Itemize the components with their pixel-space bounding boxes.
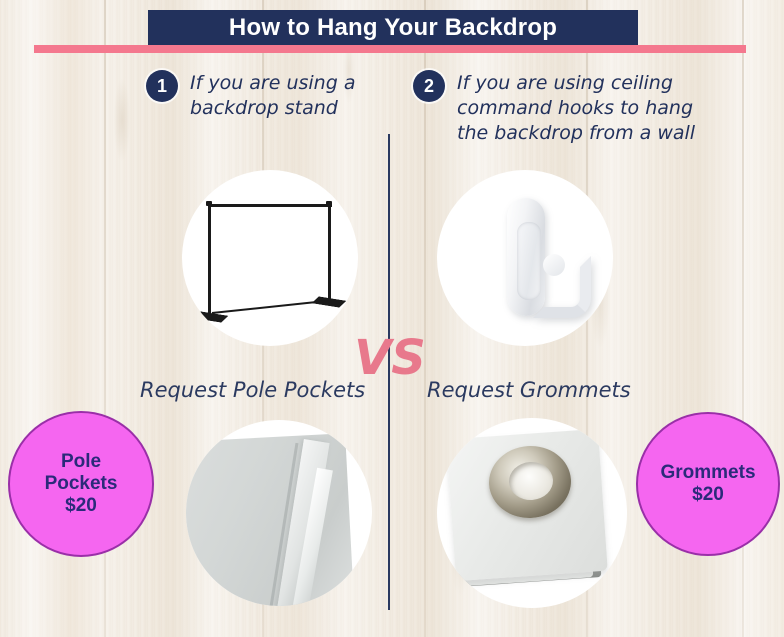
versus-label: VS (352, 334, 428, 382)
step-description-2: If you are using ceiling command hooks t… (457, 70, 703, 146)
command-hook-photo (437, 170, 613, 346)
backdrop-stand-illustration (182, 170, 358, 346)
pole-pocket-fabric-photo (186, 420, 372, 606)
stand-left-post (208, 204, 211, 314)
command-hook-illustration (437, 170, 613, 346)
stand-right-post (328, 204, 331, 300)
badge-line: $20 (660, 484, 755, 506)
infographic-canvas: How to Hang Your Backdrop 1 If you are u… (0, 0, 784, 637)
pole-pocket-illustration (186, 420, 372, 606)
stand-bottom-bar (212, 300, 330, 314)
price-badge-grommets-label: Grommets $20 (652, 462, 763, 506)
badge-line: Pole (45, 451, 118, 473)
stand-cap-right (326, 201, 332, 206)
step-number-badge-1: 1 (146, 70, 178, 102)
badge-line: Pockets (45, 473, 118, 495)
grommet-illustration (437, 418, 627, 608)
grommet-photo (437, 418, 627, 608)
price-badge-grommets[interactable]: Grommets $20 (636, 412, 780, 556)
hook-tip (543, 254, 565, 276)
caption-grommets: Request Grommets (427, 378, 631, 402)
accent-rule (34, 45, 746, 53)
price-badge-pole-pockets-label: Pole Pockets $20 (37, 451, 126, 517)
badge-line: $20 (45, 495, 118, 517)
backdrop-stand-photo (182, 170, 358, 346)
title-banner: How to Hang Your Backdrop (148, 10, 638, 46)
fabric-body (186, 433, 355, 606)
stand-top-bar (208, 204, 332, 207)
step-number-badge-2: 2 (413, 70, 445, 102)
step-2: 2 If you are using ceiling command hooks… (413, 70, 703, 146)
caption-pole-pockets: Request Pole Pockets (140, 378, 365, 402)
step-description-1: If you are using a backdrop stand (190, 70, 386, 121)
badge-line: Grommets (660, 462, 755, 484)
stand-cap-left (206, 201, 212, 206)
page-title: How to Hang Your Backdrop (229, 14, 557, 42)
step-1: 1 If you are using a backdrop stand (146, 70, 386, 121)
price-badge-pole-pockets[interactable]: Pole Pockets $20 (8, 411, 154, 557)
